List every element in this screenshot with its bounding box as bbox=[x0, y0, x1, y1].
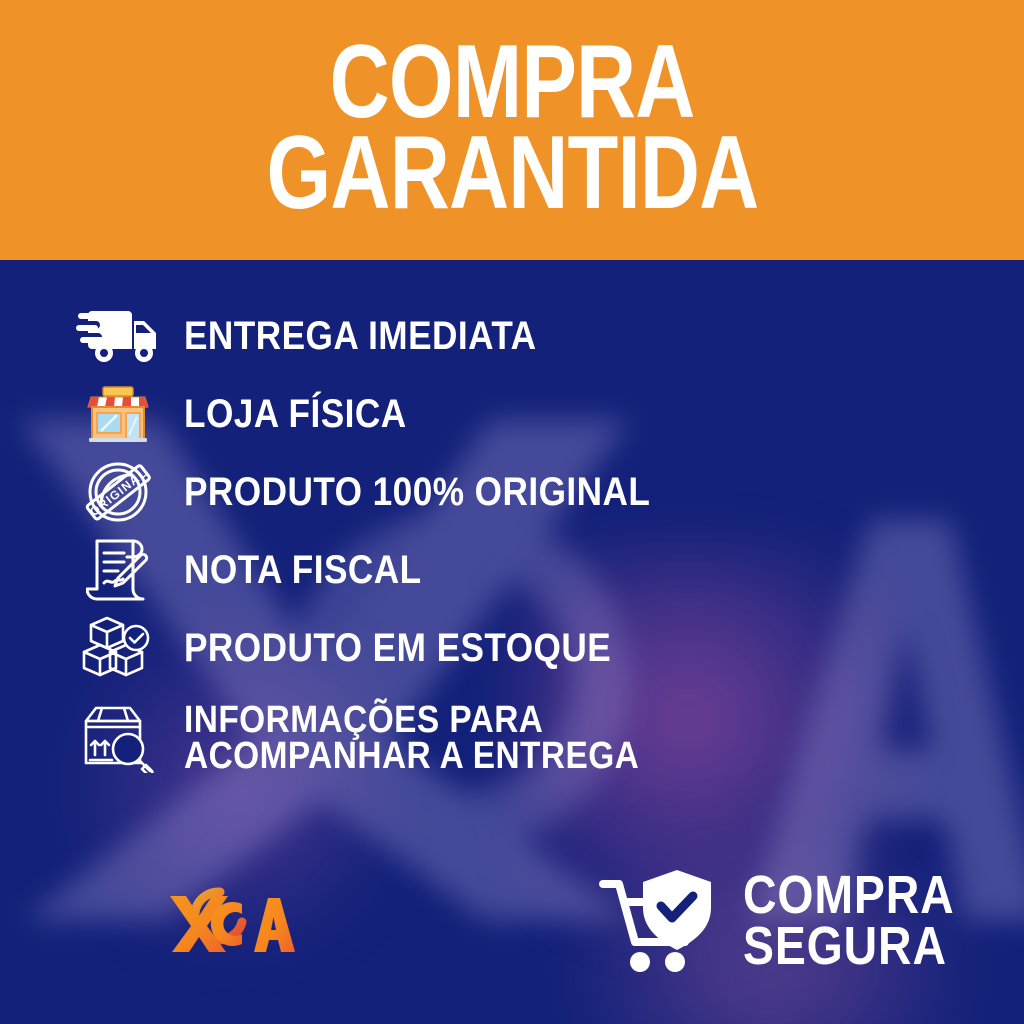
feature-label: INFORMAÇÕES PARA ACOMPANHAR A ENTREGA bbox=[184, 702, 639, 775]
promo-banner: COMPRA GARANTIDA bbox=[0, 0, 1024, 1024]
page-title-line-2: GARANTIDA bbox=[266, 130, 758, 217]
feature-item-informacoes-entrega: INFORMAÇÕES PARA ACOMPANHAR A ENTREGA bbox=[0, 690, 1024, 786]
banner-header: COMPRA GARANTIDA bbox=[0, 0, 1024, 260]
original-badge-icon: ORIGINAL bbox=[76, 457, 160, 527]
feature-item-entrega-imediata: ENTREGA IMEDIATA bbox=[0, 300, 1024, 372]
storefront-icon bbox=[76, 379, 160, 449]
feature-label: PRODUTO EM ESTOQUE bbox=[184, 629, 611, 667]
feature-item-produto-estoque: PRODUTO EM ESTOQUE bbox=[0, 612, 1024, 684]
xca-logo bbox=[168, 874, 298, 954]
feature-item-nota-fiscal: NOTA FISCAL bbox=[0, 534, 1024, 606]
secure-purchase-label: COMPRA SEGURA bbox=[743, 870, 955, 973]
banner-footer: COMPRA SEGURA bbox=[0, 844, 1024, 1024]
feature-list: ENTREGA IMEDIATA bbox=[0, 300, 1024, 792]
feature-label: NOTA FISCAL bbox=[184, 551, 422, 589]
delivery-truck-icon bbox=[76, 301, 160, 371]
feature-item-loja-fisica: LOJA FÍSICA bbox=[0, 378, 1024, 450]
feature-item-produto-original: ORIGINAL PRODUTO 100% ORIGINAL bbox=[0, 456, 1024, 528]
feature-label: PRODUTO 100% ORIGINAL bbox=[184, 473, 650, 511]
page-title-line-1: COMPRA bbox=[330, 39, 695, 126]
invoice-scroll-icon bbox=[76, 535, 160, 605]
box-search-icon bbox=[76, 703, 160, 773]
feature-label: LOJA FÍSICA bbox=[184, 395, 407, 433]
cart-shield-check-icon bbox=[595, 862, 725, 980]
boxes-check-icon bbox=[76, 613, 160, 683]
secure-purchase-block: COMPRA SEGURA bbox=[595, 862, 989, 980]
feature-label: ENTREGA IMEDIATA bbox=[184, 317, 537, 355]
